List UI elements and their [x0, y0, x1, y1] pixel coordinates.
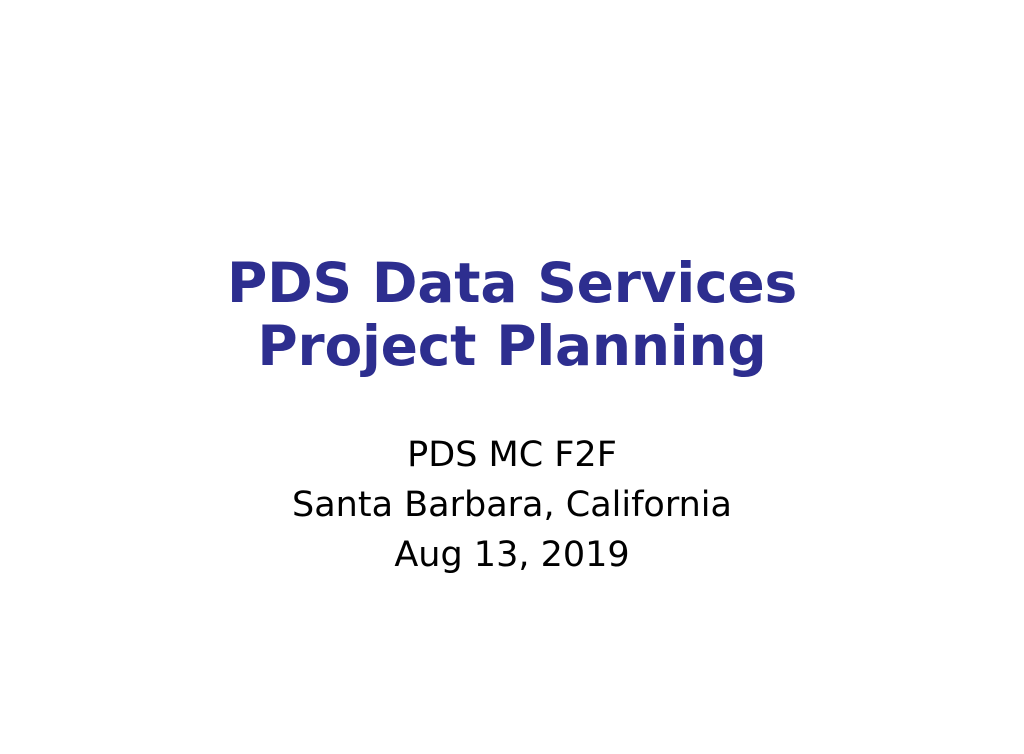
subtitle-line-date: Aug 13, 2019 [162, 530, 862, 580]
presentation-title-slide: PDS Data Services Project Planning PDS M… [0, 0, 1024, 754]
title-block: PDS Data Services Project Planning [112, 252, 912, 378]
slide-title: PDS Data Services Project Planning [112, 252, 912, 378]
subtitle-line-location: Santa Barbara, California [162, 480, 862, 530]
subtitle-block: PDS MC F2F Santa Barbara, California Aug… [162, 430, 862, 580]
subtitle-line-event: PDS MC F2F [162, 430, 862, 480]
